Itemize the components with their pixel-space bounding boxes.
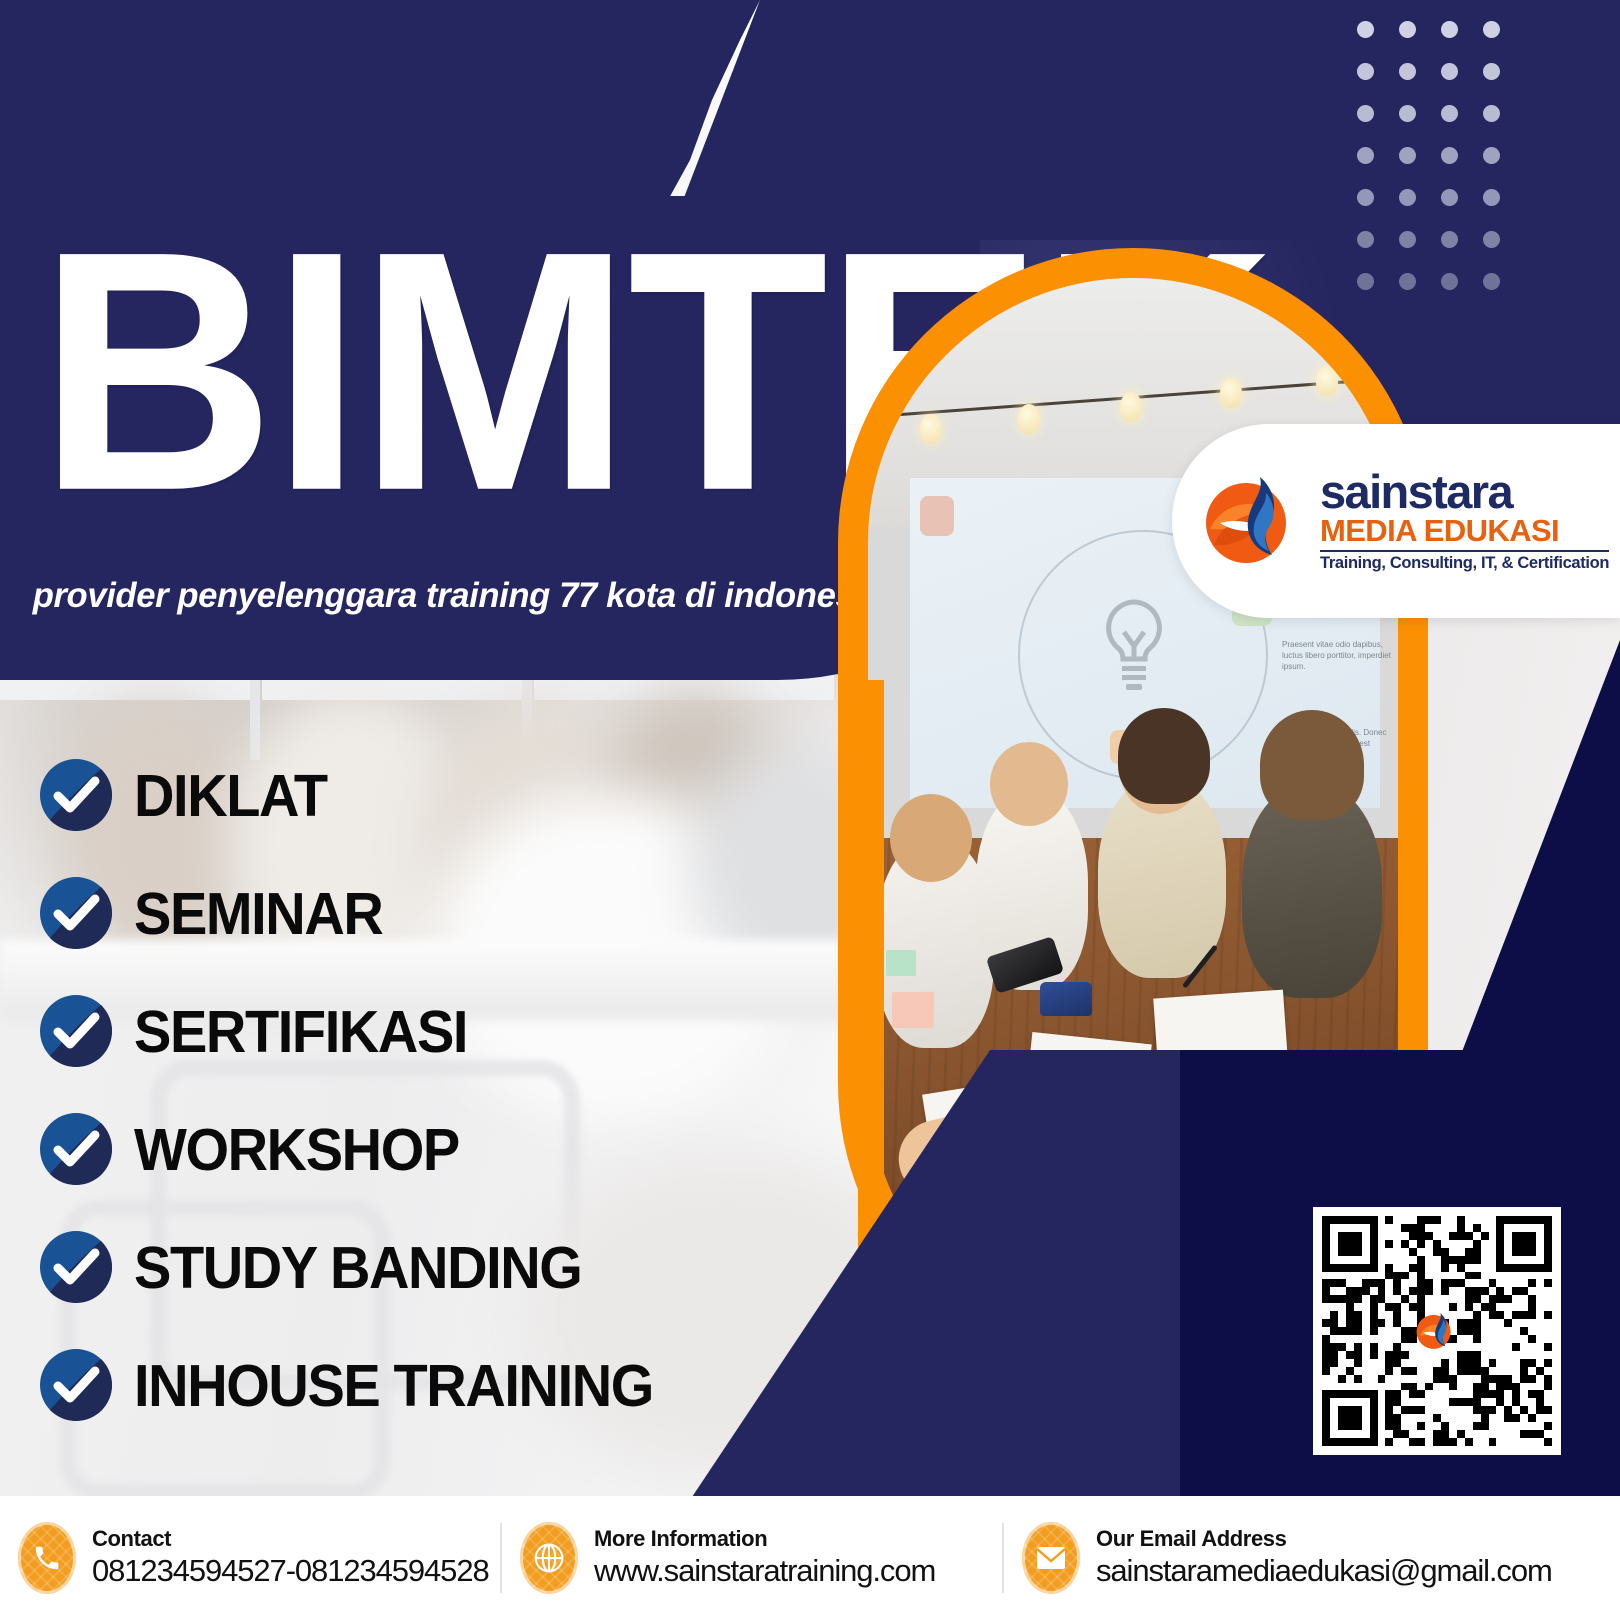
phone-icon xyxy=(18,1522,76,1594)
service-label: STUDY BANDING xyxy=(134,1233,581,1302)
lightbulb-icon xyxy=(1096,596,1172,696)
poster-canvas: BIMTEK provider penyelenggara training 7… xyxy=(0,0,1620,1620)
list-item[interactable]: STUDY BANDING xyxy=(40,1208,860,1326)
globe-icon xyxy=(520,1522,578,1594)
logo-tagline: Training, Consulting, IT, & Certificatio… xyxy=(1320,554,1609,573)
service-label: SEMINAR xyxy=(134,879,382,948)
service-label: DIKLAT xyxy=(134,761,327,830)
dot-grid-decoration xyxy=(1344,8,1512,302)
logo-divider xyxy=(1320,550,1609,552)
contact-card-icon xyxy=(920,496,954,536)
footer-website-title: More Information xyxy=(594,1526,935,1552)
flame-indonesia-logo-icon xyxy=(1198,467,1306,575)
check-circle-icon xyxy=(40,1113,112,1185)
check-circle-icon xyxy=(40,759,112,831)
logo-subtitle: MEDIA EDUKASI xyxy=(1320,515,1609,547)
check-circle-icon xyxy=(40,995,112,1067)
list-item[interactable]: SERTIFIKASI xyxy=(40,972,860,1090)
list-item[interactable]: SEMINAR xyxy=(40,854,860,972)
title-block: BIMTEK xyxy=(38,228,978,488)
page-subtitle: provider penyelenggara training 77 kota … xyxy=(33,576,964,616)
footer-email-title: Our Email Address xyxy=(1096,1526,1552,1552)
slide-paragraph-1: Praesent vitae odio dapibus, luctus libe… xyxy=(1282,640,1392,672)
service-label: SERTIFIKASI xyxy=(134,997,467,1066)
list-item[interactable]: INHOUSE TRAINING xyxy=(40,1326,860,1444)
footer-contact-bar: Contact 081234594527-081234594528 More I… xyxy=(0,1496,1620,1620)
envelope-icon xyxy=(1022,1522,1080,1594)
check-circle-icon xyxy=(40,877,112,949)
qr-code[interactable] xyxy=(1313,1207,1561,1455)
brand-logo-badge: sainstara MEDIA EDUKASI Training, Consul… xyxy=(1172,424,1620,618)
sainstara-logo-icon xyxy=(1414,1308,1460,1354)
footer-email[interactable]: Our Email Address sainstaramediaedukasi@… xyxy=(1004,1522,1604,1594)
logo-name: sainstara xyxy=(1320,469,1609,515)
list-item[interactable]: WORKSHOP xyxy=(40,1090,860,1208)
list-item[interactable]: DIKLAT xyxy=(40,736,860,854)
footer-email-value: sainstaramediaedukasi@gmail.com xyxy=(1096,1552,1552,1590)
service-label: WORKSHOP xyxy=(134,1115,459,1184)
footer-contact[interactable]: Contact 081234594527-081234594528 xyxy=(0,1522,500,1594)
footer-website-value: www.sainstaratraining.com xyxy=(594,1552,935,1590)
service-label: INHOUSE TRAINING xyxy=(134,1351,653,1420)
check-circle-icon xyxy=(40,1349,112,1421)
footer-contact-value: 081234594527-081234594528 xyxy=(92,1552,489,1590)
footer-website[interactable]: More Information www.sainstaratraining.c… xyxy=(502,1522,1002,1594)
footer-contact-title: Contact xyxy=(92,1526,489,1552)
services-list: DIKLAT SEMINAR SERTIFIKASI WORKSHOP xyxy=(40,736,860,1444)
check-circle-icon xyxy=(40,1231,112,1303)
